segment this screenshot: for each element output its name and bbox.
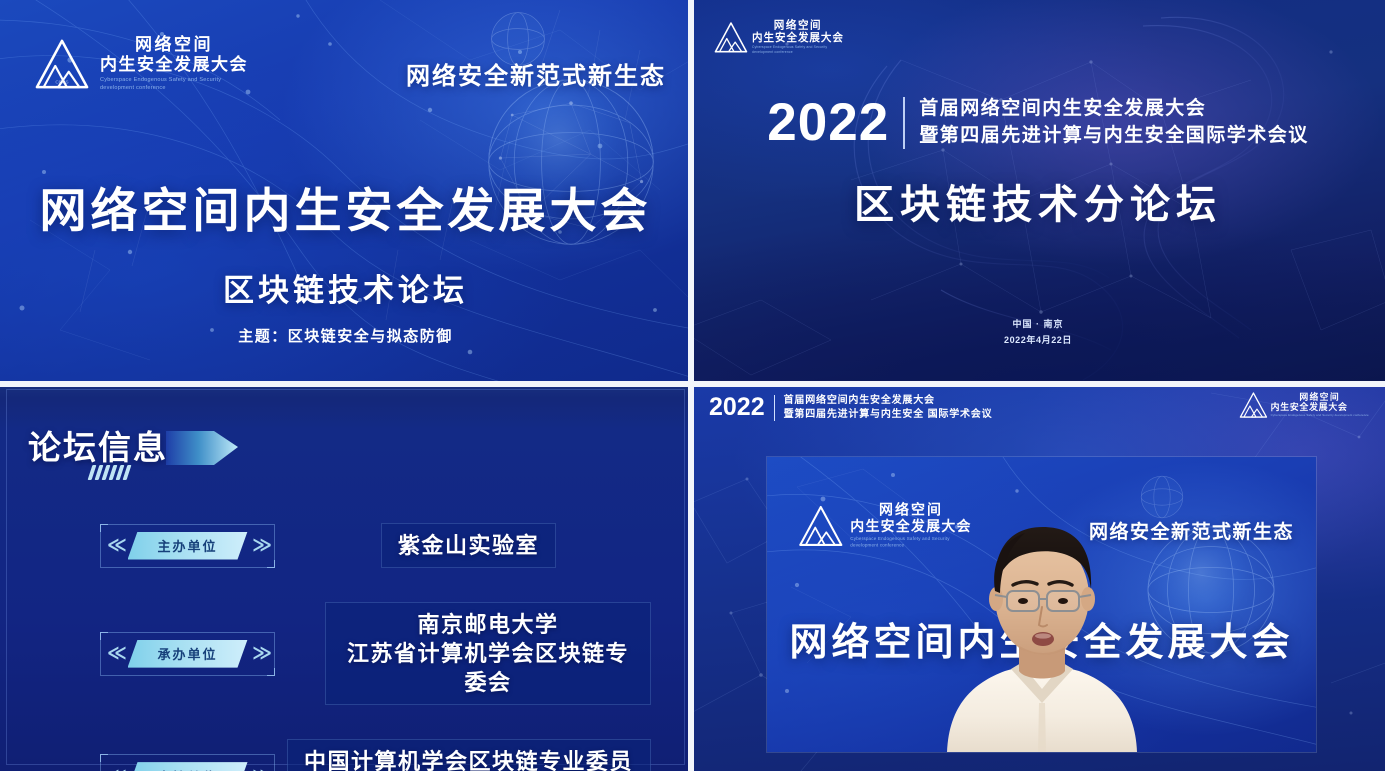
slide-tagline: 网络安全新范式新生态 (406, 56, 666, 91)
vertical-rule-divider (774, 395, 775, 421)
slide-theme: 主题：区块链安全与拟态防御 (0, 325, 691, 346)
badge-supporter: ≪ 支持单位 ≫ (100, 754, 275, 771)
organization-names: 南京邮电大学 江苏省计算机学会区块链专委会 (325, 602, 651, 705)
info-row[interactable]: ≪ 主办单位 ≫ 紫金山实验室 (100, 523, 651, 568)
chevron-right-icon: ≫ (252, 536, 268, 555)
logo-line2: 内生安全发展大会 (100, 56, 248, 73)
chevron-left-icon: ≪ (107, 536, 123, 555)
conference-title-line1: 首届网络空间内生安全发展大会 (919, 98, 1309, 120)
mountain-triangle-logo-icon (1239, 391, 1269, 419)
info-row[interactable]: ≪ 承办单位 ≫ 南京邮电大学 江苏省计算机学会区块链专委会 (100, 602, 651, 705)
organization-name-line2: 江苏省计算机学会区块链专委会 (342, 639, 634, 697)
conference-year-title-row: 2022 首届网络空间内生安全发展大会 暨第四届先进计算与内生安全国际学术会议 (691, 96, 1385, 149)
panel-forum-information-slide[interactable]: 论坛信息 ≪ 主办单位 ≫ (0, 383, 691, 771)
organization-name: 中国计算机学会区块链专业委员会 (287, 739, 651, 771)
panel-sub-forum-title-slide[interactable]: 网络空间 内生安全发展大会 Cyberspace Endogenous Safe… (691, 0, 1385, 383)
logo-english-line2: development conference (100, 84, 248, 92)
organization-name-line1: 南京邮电大学 (342, 610, 634, 639)
conference-logo: CESS 网络空间 内生安全发展大会 Cyberspace Endogenous… (33, 36, 248, 93)
decorative-tick-marks (90, 465, 129, 480)
banner-title-line2: 暨第四届先进计算与内生安全 国际学术会议 (784, 408, 993, 422)
chevron-left-icon: ≪ (107, 767, 123, 771)
slide-subheadline: 区块链技术论坛 (0, 265, 691, 310)
badge-co-organizer: ≪ 承办单位 ≫ (100, 632, 275, 676)
logo-line1: 网络空间 (1271, 392, 1369, 401)
venue-info: 中国 · 南京 2022年4月22日 (691, 317, 1385, 348)
logo-english: Cyberspace Endogenous Safety and Securit… (1271, 413, 1369, 417)
badge-label: 承办单位 (128, 640, 248, 668)
banner-year: 2022 (709, 395, 765, 420)
venue-city: 中国 · 南京 (691, 317, 1385, 332)
conference-title-line2: 暨第四届先进计算与内生安全国际学术会议 (919, 125, 1309, 147)
right-arrow-banner-icon (166, 425, 240, 469)
info-row[interactable]: ≪ 支持单位 ≫ 中国计算机学会区块链专业委员会 (100, 739, 651, 771)
forum-info-rows: ≪ 主办单位 ≫ 紫金山实验室 ≪ 承办单位 ≫ 南京邮电大学 江苏省计算机学会… (100, 523, 651, 771)
panel-conference-title-slide[interactable]: CESS 网络空间 内生安全发展大会 Cyberspace Endogenous… (0, 0, 691, 383)
chevron-right-icon: ≫ (252, 644, 268, 663)
badge-label: 主办单位 (128, 532, 248, 560)
logo-line1: 网络空间 (752, 20, 844, 31)
vertical-rule-divider (903, 97, 905, 149)
slide-headline: 网络空间内生安全发展大会 (0, 172, 691, 241)
badge-label: 支持单位 (128, 762, 248, 771)
chevron-right-icon: ≫ (252, 767, 268, 771)
organization-name: 紫金山实验室 (381, 523, 556, 568)
conference-logo: 网络空间 内生安全发展大会 Cyberspace Endogenous Safe… (713, 20, 844, 55)
badge-host-organizer: ≪ 主办单位 ≫ (100, 524, 275, 568)
mountain-triangle-logo-icon (713, 21, 749, 54)
logo-line2: 内生安全发展大会 (752, 32, 844, 43)
panel-live-speaker-video[interactable]: 2022 首届网络空间内生安全发展大会 暨第四届先进计算与内生安全 国际学术会议 (691, 383, 1385, 771)
chevron-left-icon: ≪ (107, 644, 123, 663)
conference-year: 2022 (767, 96, 889, 149)
video-top-banner: 2022 首届网络空间内生安全发展大会 暨第四届先进计算与内生安全 国际学术会议 (691, 383, 1385, 445)
speaker-video-feed[interactable]: 网络空间 内生安全发展大会 Cyberspace Endogenous Safe… (767, 457, 1316, 752)
banner-conference-logo: 网络空间 内生安全发展大会 Cyberspace Endogenous Safe… (1239, 391, 1369, 419)
speaker-person (767, 457, 1316, 752)
venue-date: 2022年4月22日 (691, 333, 1385, 348)
section-title: 论坛信息 (28, 421, 172, 469)
banner-title-group: 2022 首届网络空间内生安全发展大会 暨第四届先进计算与内生安全 国际学术会议 (709, 394, 992, 421)
mountain-triangle-logo-icon: CESS (33, 37, 91, 91)
logo-line1: 网络空间 (100, 36, 248, 53)
banner-title-line1: 首届网络空间内生安全发展大会 (784, 394, 993, 408)
sub-forum-title: 区块链技术分论坛 (691, 172, 1385, 230)
logo-english-line2: development conference (752, 50, 844, 55)
logo-english-line1: Cyberspace Endogenous Safety and Securit… (100, 76, 248, 84)
svg-text:CESS: CESS (55, 80, 68, 86)
montage-grid: CESS 网络空间 内生安全发展大会 Cyberspace Endogenous… (0, 0, 1385, 771)
logo-line2: 内生安全发展大会 (1271, 403, 1369, 412)
section-header: 论坛信息 (28, 421, 240, 469)
